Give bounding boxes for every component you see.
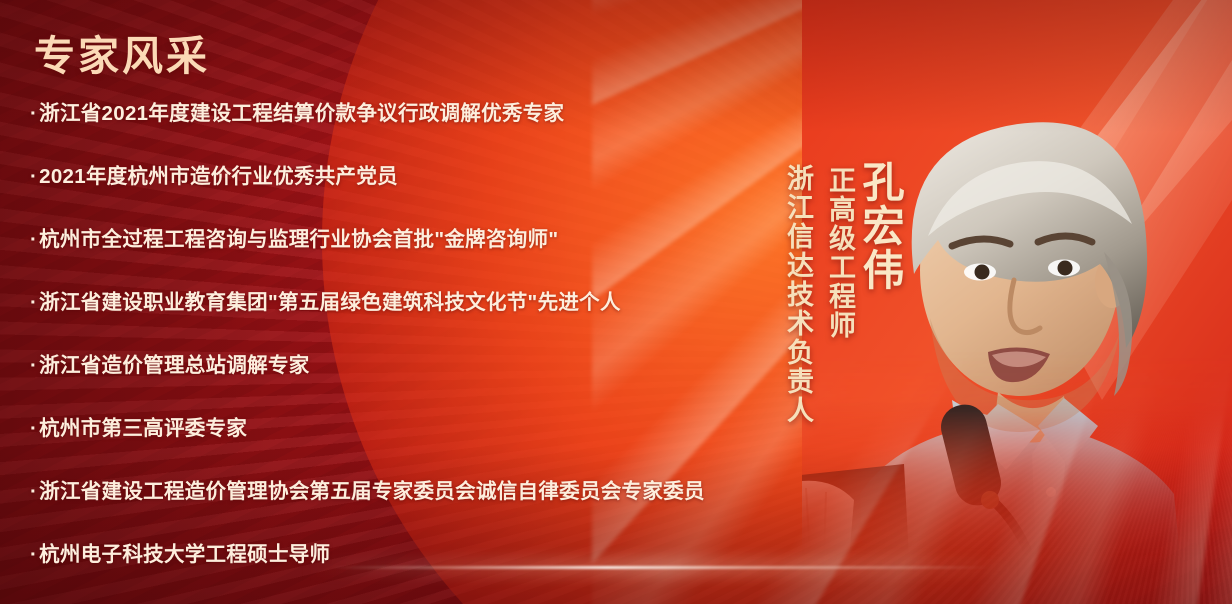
award-list: · 浙江省2021年度建设工程结算价款争议行政调解优秀专家 · 2021年度杭州… bbox=[30, 96, 870, 600]
list-item: · 浙江省建设工程造价管理协会第五届专家委员会诚信自律委员会专家委员 bbox=[30, 474, 870, 537]
list-item: · 杭州电子科技大学工程硕士导师 bbox=[30, 537, 870, 600]
bullet-dot: · bbox=[30, 165, 37, 189]
list-item: · 杭州市第三高评委专家 bbox=[30, 411, 870, 474]
bullet-dot: · bbox=[30, 228, 37, 252]
list-item: · 杭州市全过程工程咨询与监理行业协会首批"金牌咨询师" bbox=[30, 222, 870, 285]
list-item: · 浙江省2021年度建设工程结算价款争议行政调解优秀专家 bbox=[30, 96, 870, 159]
list-item-label: 杭州电子科技大学工程硕士导师 bbox=[39, 537, 330, 567]
bullet-dot: · bbox=[30, 417, 37, 441]
bullet-dot: · bbox=[30, 543, 37, 567]
list-item-label: 浙江省造价管理总站调解专家 bbox=[39, 348, 309, 378]
person-title: 正高级工程师 bbox=[821, 166, 860, 340]
list-item-label: 浙江省2021年度建设工程结算价款争议行政调解优秀专家 bbox=[39, 96, 564, 126]
page-title: 专家风采 bbox=[34, 22, 210, 82]
bullet-dot: · bbox=[30, 480, 37, 504]
expert-profile-poster: 专家风采 · 浙江省2021年度建设工程结算价款争议行政调解优秀专家 · 202… bbox=[0, 0, 1232, 604]
list-item: · 2021年度杭州市造价行业优秀共产党员 bbox=[30, 159, 870, 222]
list-item-label: 浙江省建设职业教育集团"第五届绿色建筑科技文化节"先进个人 bbox=[39, 285, 621, 315]
list-item: · 浙江省建设职业教育集团"第五届绿色建筑科技文化节"先进个人 bbox=[30, 285, 870, 348]
list-item-label: 2021年度杭州市造价行业优秀共产党员 bbox=[39, 159, 398, 189]
list-item-label: 杭州市第三高评委专家 bbox=[39, 411, 247, 441]
person-organization: 浙江信达技术负责人 bbox=[779, 164, 818, 425]
bullet-dot: · bbox=[30, 354, 37, 378]
list-item-label: 杭州市全过程工程咨询与监理行业协会首批"金牌咨询师" bbox=[39, 222, 558, 252]
bullet-dot: · bbox=[30, 102, 37, 126]
bullet-dot: · bbox=[30, 291, 37, 315]
list-item-label: 浙江省建设工程造价管理协会第五届专家委员会诚信自律委员会专家委员 bbox=[39, 474, 705, 504]
list-item: · 浙江省造价管理总站调解专家 bbox=[30, 348, 870, 411]
